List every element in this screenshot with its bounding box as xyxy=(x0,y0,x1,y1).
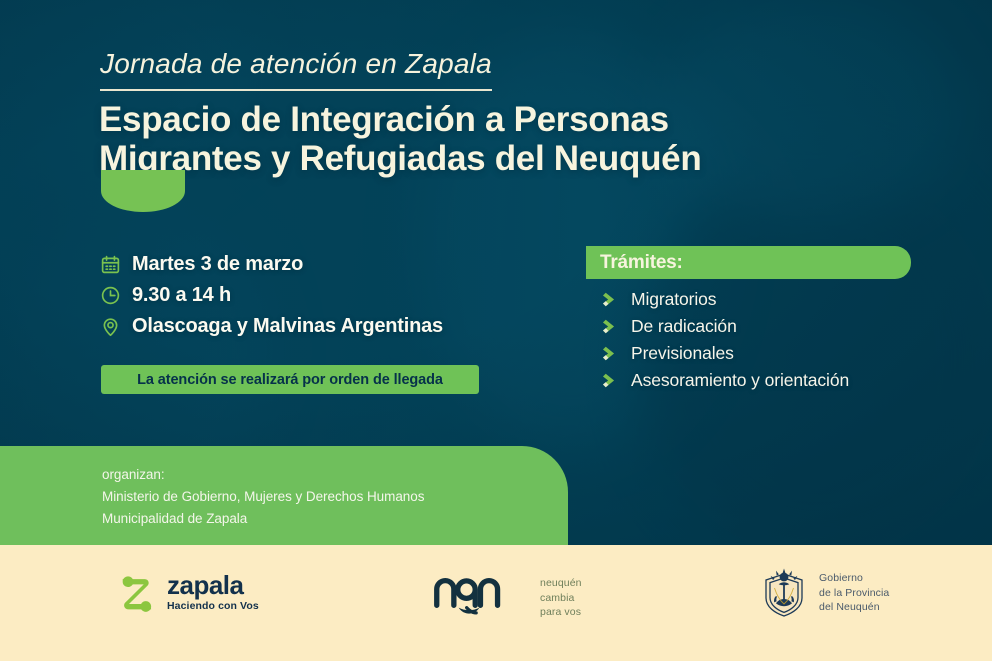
list-item-label: Migratorios xyxy=(631,289,716,310)
clock-icon xyxy=(100,285,121,306)
headline-line-1: Espacio de Integración a Personas xyxy=(99,100,701,139)
detail-row-time: 9.30 a 14 h xyxy=(100,280,443,311)
list-item: Migratorios xyxy=(601,286,849,313)
detail-location-text: Olascoaga y Malvinas Argentinas xyxy=(132,315,443,338)
poster-kicker: Jornada de atención en Zapala xyxy=(100,48,492,91)
gobierno-wordmark: Gobierno de la Provincia del Neuquén xyxy=(819,571,889,616)
nqn-tagline-line-1: neuquén xyxy=(540,576,582,591)
list-item: Previsionales xyxy=(601,340,849,367)
page-title: Espacio de Integración a Personas Migran… xyxy=(99,100,701,178)
gobierno-line-2: de la Provincia xyxy=(819,586,889,601)
gobierno-logo: Gobierno de la Provincia del Neuquén xyxy=(760,568,889,618)
list-item-label: Asesoramiento y orientación xyxy=(631,370,849,391)
calendar-icon xyxy=(100,254,121,275)
detail-row-location: Olascoaga y Malvinas Argentinas xyxy=(100,311,443,342)
gobierno-line-3: del Neuquén xyxy=(819,600,889,615)
list-item-label: Previsionales xyxy=(631,343,734,364)
poster: Jornada de atención en Zapala Espacio de… xyxy=(0,0,992,661)
arrival-order-notice: La atención se realizará por orden de ll… xyxy=(101,365,479,394)
organizer-municipality: Municipalidad de Zapala xyxy=(102,508,568,530)
event-details: Martes 3 de marzo 9.30 a 14 h Olascoaga … xyxy=(100,249,443,342)
location-pin-icon xyxy=(100,316,121,337)
organizer-ministry: Ministerio de Gobierno, Mujeres y Derech… xyxy=(102,486,568,508)
nqn-wordmark-icon xyxy=(432,569,527,615)
tramites-list: Migratorios De radicación Previsionales … xyxy=(601,286,849,394)
green-swoosh-accent xyxy=(101,170,185,212)
headline-line-2: Migrantes y Refugiadas del Neuquén xyxy=(99,139,701,178)
chevron-right-icon xyxy=(601,317,620,336)
tramites-title: Trámites: xyxy=(600,252,683,274)
detail-time-text: 9.30 a 14 h xyxy=(132,284,231,307)
chevron-right-icon xyxy=(601,290,620,309)
zapala-z-mark-icon xyxy=(116,571,158,613)
chevron-right-icon xyxy=(601,344,620,363)
zapala-logo: zapala Haciendo con Vos xyxy=(116,571,259,613)
detail-date-text: Martes 3 de marzo xyxy=(132,253,303,276)
organizers-label: organizan: xyxy=(102,464,568,486)
footer-logo-bar: zapala Haciendo con Vos neuquén camb xyxy=(0,545,992,661)
zapala-tagline: Haciendo con Vos xyxy=(167,601,259,612)
tramites-header: Trámites: xyxy=(586,246,911,279)
chevron-right-icon xyxy=(601,371,620,390)
gobierno-line-1: Gobierno xyxy=(819,571,889,586)
list-item: Asesoramiento y orientación xyxy=(601,367,849,394)
nqn-tagline: neuquén cambia para vos xyxy=(540,569,582,620)
zapala-wordmark: zapala Haciendo con Vos xyxy=(167,572,259,612)
organizers-panel: organizan: Ministerio de Gobierno, Mujer… xyxy=(0,446,568,545)
provincial-shield-crest-icon xyxy=(760,568,808,618)
detail-row-date: Martes 3 de marzo xyxy=(100,249,443,280)
list-item-label: De radicación xyxy=(631,316,737,337)
list-item: De radicación xyxy=(601,313,849,340)
zapala-name: zapala xyxy=(167,572,259,598)
arrival-order-notice-text: La atención se realizará por orden de ll… xyxy=(137,372,443,388)
nqn-tagline-line-3: para vos xyxy=(540,605,582,620)
nqn-logo: neuquén cambia para vos xyxy=(432,569,582,620)
nqn-tagline-line-2: cambia xyxy=(540,591,582,606)
